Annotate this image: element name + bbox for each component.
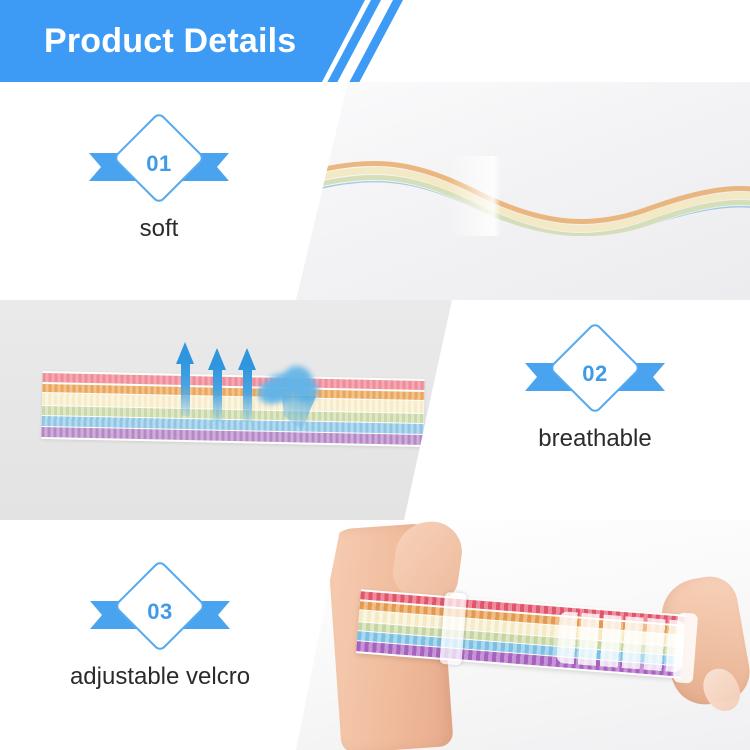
arrow-up-icon-1 [176,342,194,416]
feature-panel-breathable: 02 breathable [0,300,750,520]
feature-label-soft: soft [34,214,284,244]
feature-badge-03: 03 adjustable velcro [10,572,310,692]
photo-twisted-band [296,82,750,300]
feature-panel-velcro: 03 adjustable velcro [0,520,750,750]
badge-number: 03 [94,600,226,624]
badge-number: 01 [93,152,225,176]
badge-graphic: 03 [94,572,226,658]
feature-badge-02: 02 breathable [470,334,720,454]
feature-panel-soft: 01 soft [0,82,750,300]
photo-breathable-band [0,300,452,520]
arrow-up-icon-3 [238,348,256,422]
product-details-infographic: Product Details [0,0,750,750]
feature-label-velcro: adjustable velcro [10,662,310,692]
page-title: Product Details [44,20,296,62]
fingernail-graphic [697,663,747,717]
rainbow-band-flat [41,371,424,447]
badge-graphic: 02 [529,334,661,420]
arrow-up-icon-2 [208,348,226,422]
badge-graphic: 01 [93,124,225,210]
twisted-band-graphic [308,156,750,236]
feature-label-breathable: breathable [470,424,720,454]
velcro-patch [556,611,686,673]
feature-badge-01: 01 soft [34,124,284,244]
badge-number: 02 [529,362,661,386]
header-banner: Product Details [0,0,750,82]
photo-velcro-on-wrist [296,520,750,750]
thumb-graphic [390,520,466,603]
cloud-puff-icon [258,362,320,408]
